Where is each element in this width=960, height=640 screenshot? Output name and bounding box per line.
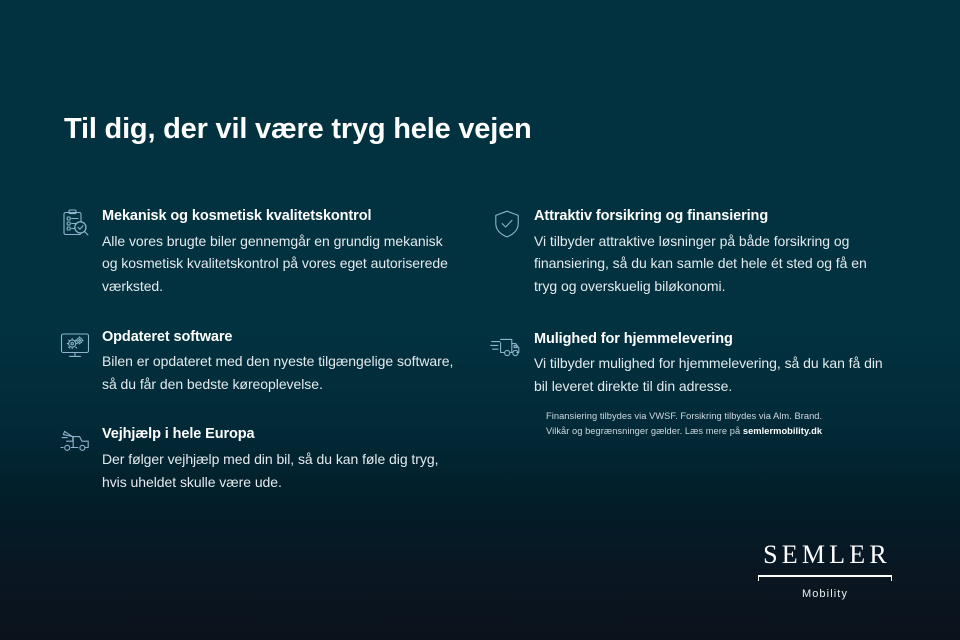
logo-rule [750,575,900,585]
feature-text: Alle vores brugte biler gennemgår en gru… [102,230,458,298]
disclaimer-line-1: Finansiering tilbydes via VWSF. Forsikri… [546,409,846,424]
page-title: Til dig, der vil være tryg hele vejen [64,113,532,146]
feature-body: Attraktiv forsikring og finansiering Vi … [534,205,890,298]
feature-text: Der følger vejhjælp med din bil, så du k… [102,448,458,493]
feature-column-left: Mekanisk og kosmetisk kvalitetskontrol A… [58,205,458,493]
feature-item-quality-control: Mekanisk og kosmetisk kvalitetskontrol A… [58,205,458,298]
disclaimer: Finansiering tilbydes via VWSF. Forsikri… [546,409,846,439]
feature-title: Opdateret software [102,328,458,348]
feature-text: Vi tilbyder mulighed for hjemmelevering,… [534,352,890,397]
feature-item-home-delivery: Mulighed for hjemmelevering Vi tilbyder … [490,328,890,398]
feature-text: Bilen er opdateret med den nyeste tilgæn… [102,350,458,395]
shield-check-icon [490,205,534,245]
feature-item-updated-software: Opdateret software Bilen er opdateret me… [58,326,458,396]
logo-wordmark: SEMLER [750,542,900,568]
tow-truck-icon [58,423,102,463]
feature-body: Vejhjælp i hele Europa Der følger vejhjæ… [102,423,458,493]
delivery-truck-icon [490,328,534,368]
feature-title: Mulighed for hjemmelevering [534,330,890,350]
disclaimer-line-2: Vilkår og begrænsninger gælder. Læs mere… [546,424,846,439]
slide-root: Til dig, der vil være tryg hele vejen [0,0,960,640]
feature-title: Mekanisk og kosmetisk kvalitetskontrol [102,207,458,227]
clipboard-magnifier-icon [58,205,102,245]
logo-subtitle: Mobility [750,588,900,600]
monitor-gears-icon [58,326,102,366]
feature-title: Attraktiv forsikring og finansiering [534,207,890,227]
disclaimer-line-2-prefix: Vilkår og begrænsninger gælder. Læs mere… [546,426,743,436]
feature-item-insurance-financing: Attraktiv forsikring og finansiering Vi … [490,205,890,298]
feature-body: Opdateret software Bilen er opdateret me… [102,326,458,396]
feature-body: Mekanisk og kosmetisk kvalitetskontrol A… [102,205,458,298]
feature-body: Mulighed for hjemmelevering Vi tilbyder … [534,328,890,398]
feature-item-roadside-assistance: Vejhjælp i hele Europa Der følger vejhjæ… [58,423,458,493]
disclaimer-link[interactable]: semlermobility.dk [743,426,822,436]
feature-column-right: Attraktiv forsikring og finansiering Vi … [490,205,890,427]
semler-mobility-logo: SEMLER Mobility [750,542,900,600]
feature-title: Vejhjælp i hele Europa [102,425,458,445]
feature-text: Vi tilbyder attraktive løsninger på både… [534,230,890,298]
